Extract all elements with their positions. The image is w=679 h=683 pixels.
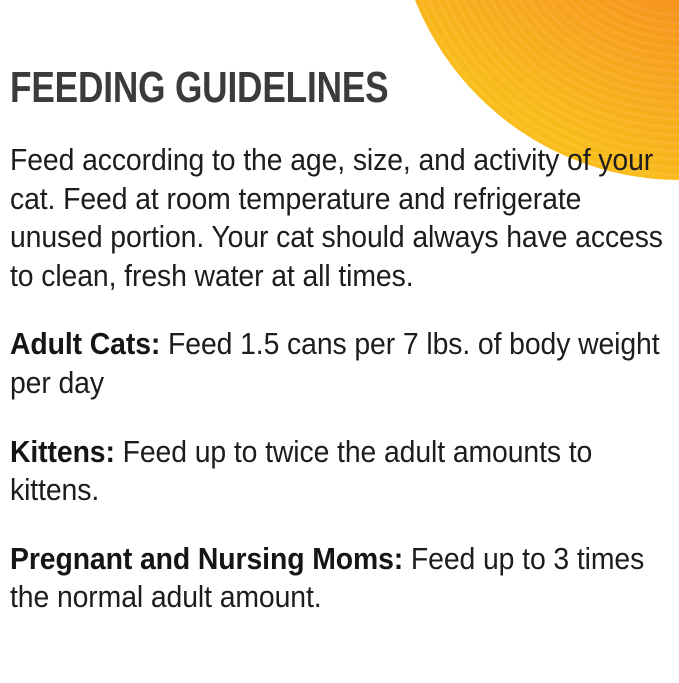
page-title: FEEDING GUIDELINES [10,0,537,114]
feeding-item-adult-cats: Adult Cats: Feed 1.5 cans per 7 lbs. of … [10,325,669,402]
feeding-item-pregnant-nursing-moms: Pregnant and Nursing Moms: Feed up to 3 … [10,540,669,617]
feeding-item-label: Pregnant and Nursing Moms: [10,542,403,576]
feeding-item-label: Kittens: [10,435,115,469]
intro-paragraph: Feed according to the age, size, and act… [10,141,669,295]
feeding-item-kittens: Kittens: Feed up to twice the adult amou… [10,433,669,510]
feeding-item-label: Adult Cats: [10,327,160,361]
feeding-guidelines-panel: FEEDING GUIDELINES Feed according to the… [0,0,679,683]
content-column: FEEDING GUIDELINES Feed according to the… [0,0,679,617]
